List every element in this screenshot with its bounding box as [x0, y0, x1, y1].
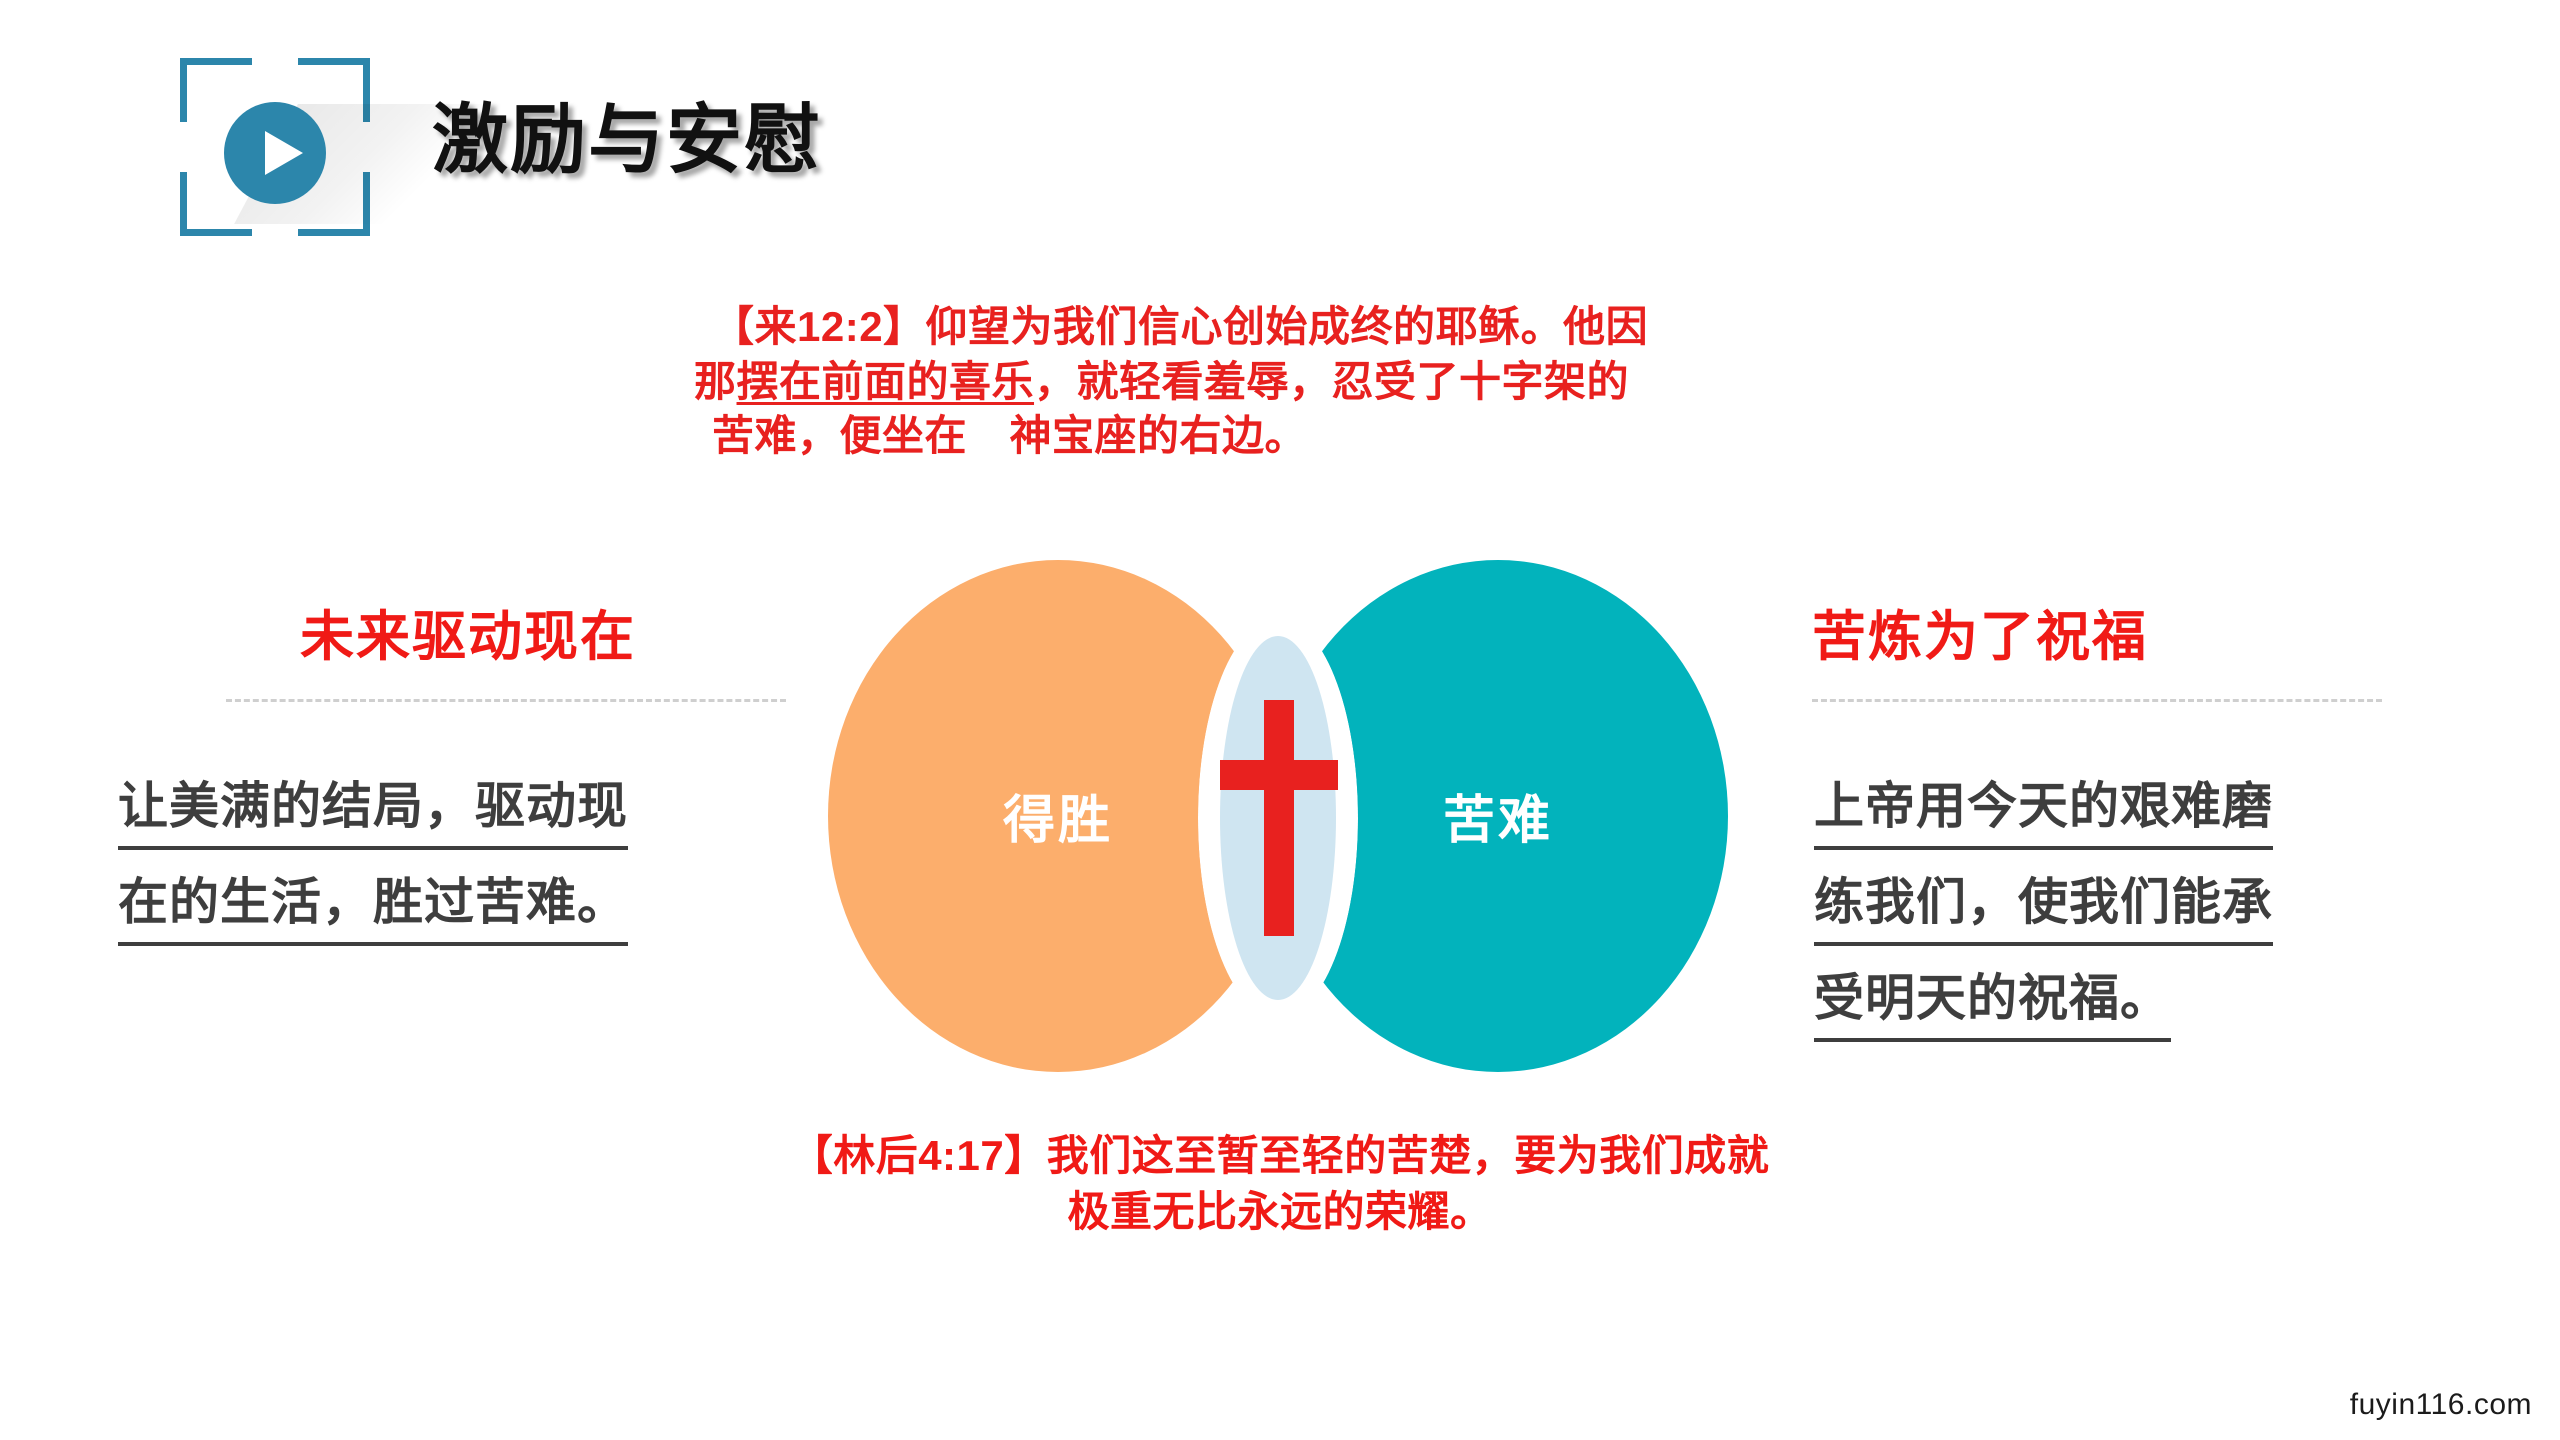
right-column-heading: 苦炼为了祝福	[1812, 592, 2492, 671]
right-column-body-line-1: 上帝用今天的艰难磨	[1814, 768, 2273, 850]
play-triangle-icon	[265, 131, 303, 175]
slide-header: 激励与安慰	[0, 0, 2560, 260]
right-column-body-line-2: 练我们，使我们能承	[1814, 864, 2273, 946]
frame-corner-top-left-icon	[180, 58, 252, 122]
scripture-bottom: 【林后4:17】我们这至暂至轻的苦楚，要为我们成就 极重无比永远的荣耀。	[0, 1128, 2560, 1241]
play-button-icon	[224, 102, 326, 204]
left-column-body: 让美满的结局，驱动现 在的生活，胜过苦难。	[108, 768, 788, 946]
page-title: 激励与安慰	[432, 78, 822, 188]
right-column-body: 上帝用今天的艰难磨 练我们，使我们能承 受明天的祝福。	[1812, 768, 2492, 1042]
left-column-divider	[226, 699, 786, 702]
scripture-bottom-line-2: 极重无比永远的荣耀。	[0, 1184, 2560, 1240]
scripture-top-line-3: 苦难，便坐在 神宝座的右边。	[712, 409, 1962, 464]
scripture-top-line-2: 那摆在前面的喜乐，就轻看羞辱，忍受了十字架的	[694, 355, 1962, 410]
site-watermark: fuyin116.com	[2350, 1388, 2532, 1422]
scripture-top: 【来12:2】仰望为我们信心创始成终的耶稣。他因 那摆在前面的喜乐，就轻看羞辱，…	[712, 300, 1962, 464]
right-column: 苦炼为了祝福 上帝用今天的艰难磨 练我们，使我们能承 受明天的祝福。	[1812, 592, 2492, 1056]
logo	[180, 58, 370, 236]
left-column: 未来驱动现在 让美满的结局，驱动现 在的生活，胜过苦难。	[108, 592, 788, 960]
left-column-heading: 未来驱动现在	[108, 592, 788, 671]
right-column-divider	[1812, 699, 2382, 702]
scripture-top-underlined-phrase: 摆在前面的喜乐	[737, 358, 1035, 405]
frame-corner-top-right-icon	[298, 58, 370, 122]
venn-diagram: 得胜 苦难	[828, 560, 1728, 1080]
venn-label-suffering: 苦难	[1150, 778, 1728, 853]
left-column-body-line-2: 在的生活，胜过苦难。	[118, 864, 628, 946]
right-column-body-line-3: 受明天的祝福。	[1814, 960, 2171, 1042]
left-column-body-line-1: 让美满的结局，驱动现	[118, 768, 628, 850]
scripture-bottom-line-1: 【林后4:17】我们这至暂至轻的苦楚，要为我们成就	[0, 1128, 2560, 1184]
scripture-top-line-1: 【来12:2】仰望为我们信心创始成终的耶稣。他因	[712, 300, 1962, 355]
